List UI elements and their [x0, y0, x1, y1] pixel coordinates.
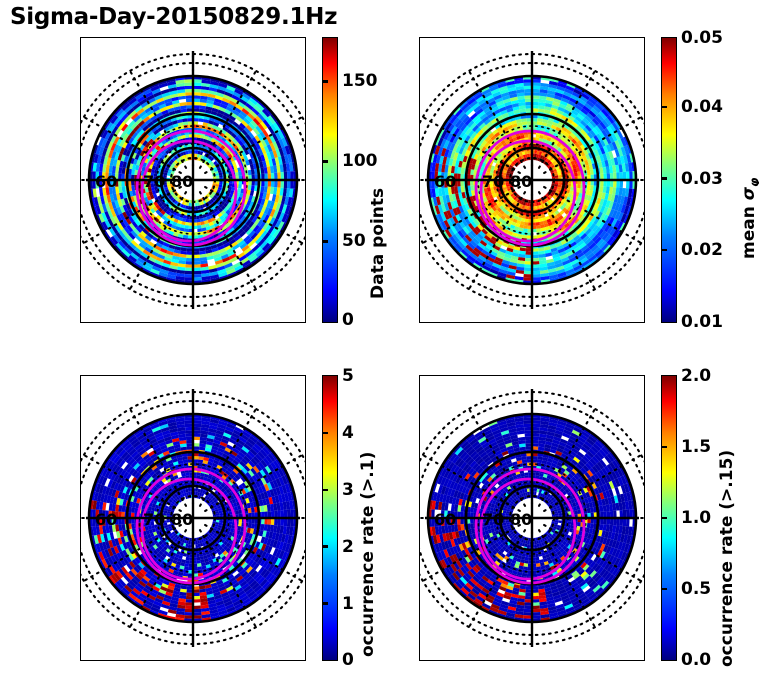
- colorbar-tick: [661, 177, 667, 179]
- colorbar-tick-label: 2: [342, 537, 354, 557]
- colorbar-tick: [322, 432, 328, 434]
- colorbar-tick: [661, 446, 667, 448]
- svg-text:60: 60: [95, 510, 117, 529]
- svg-text:70: 70: [143, 510, 165, 529]
- colorbar-tick-label: 150: [342, 71, 378, 91]
- colorbar-tick-label: 50: [342, 231, 366, 251]
- figure-root: Sigma-Day-20150829.1Hz 607080 150100500 …: [0, 0, 759, 674]
- colorbar-gradient: [322, 375, 338, 661]
- colorbar-tick-label: 0.01: [681, 312, 723, 332]
- colorbar-tick-label: 0.02: [681, 240, 723, 260]
- colorbar-tick: [322, 545, 328, 547]
- colorbar-occurrence-gt-015: 2.01.51.00.50.0 occurrence rate (>.15): [661, 375, 677, 661]
- colorbar-axis-label: Data points: [368, 188, 388, 299]
- colorbar-tick-label: 2.0: [681, 366, 711, 386]
- colorbar-axis-label: occurrence rate (>.15): [717, 450, 737, 667]
- colorbar-tick-label: 3: [342, 480, 354, 500]
- svg-text:60: 60: [434, 172, 456, 191]
- polar-plot-occurrence-gt-01: 607080: [80, 375, 306, 661]
- colorbar-tick-label: 0: [342, 310, 354, 330]
- colorbar-tick: [322, 489, 328, 491]
- svg-text:80: 80: [171, 172, 193, 191]
- svg-text:60: 60: [95, 172, 117, 191]
- svg-text:80: 80: [510, 510, 532, 529]
- colorbar-tick-label: 4: [342, 423, 354, 443]
- colorbar-tick-label: 1.5: [681, 437, 711, 457]
- occurrence-rate-gt-015-panel: 607080: [419, 375, 645, 661]
- polar-plot-mean-sigma-phi: 607080: [419, 37, 645, 323]
- occurrence-rate-gt-01-panel: 607080: [80, 375, 306, 661]
- svg-text:70: 70: [482, 172, 504, 191]
- page-title: Sigma-Day-20150829.1Hz: [10, 4, 337, 30]
- colorbar-tick-label: 1: [342, 594, 354, 614]
- colorbar-tick: [661, 249, 667, 251]
- svg-text:60: 60: [434, 510, 456, 529]
- colorbar-tick-label: 100: [342, 151, 378, 171]
- colorbar-tick: [322, 240, 328, 242]
- polar-plot-data-points: 607080: [80, 37, 306, 323]
- colorbar-mean-sigma-phi: 0.050.040.030.020.01 mean σφ: [661, 37, 677, 323]
- svg-text:80: 80: [171, 510, 193, 529]
- colorbar-axis-label: mean σφ: [739, 178, 759, 259]
- colorbar-tick-label: 0.03: [681, 169, 723, 189]
- colorbar-tick-label: 0.04: [681, 97, 723, 117]
- svg-text:70: 70: [143, 172, 165, 191]
- colorbar-tick: [661, 106, 667, 108]
- colorbar-tick-label: 0.05: [681, 28, 723, 48]
- colorbar-tick: [661, 588, 667, 590]
- polar-plot-occurrence-gt-015: 607080: [419, 375, 645, 661]
- colorbar-tick-label: 5: [342, 366, 354, 386]
- colorbar-tick: [322, 602, 328, 604]
- colorbar-tick-label: 1.0: [681, 508, 711, 528]
- svg-text:80: 80: [510, 172, 532, 191]
- colorbar-tick-label: 0: [342, 650, 354, 670]
- colorbar-tick-label: 0.0: [681, 650, 711, 670]
- svg-text:70: 70: [482, 510, 504, 529]
- colorbar-tick: [322, 80, 328, 82]
- colorbar-tick: [322, 160, 328, 162]
- mean-sigma-phi-panel: 607080: [419, 37, 645, 323]
- colorbar-tick: [661, 517, 667, 519]
- colorbar-data-points: 150100500 Data points: [322, 37, 338, 323]
- colorbar-axis-label: occurrence rate (>.1): [358, 452, 378, 657]
- data-points-panel: 607080: [80, 37, 306, 323]
- colorbar-occurrence-gt-01: 543210 occurrence rate (>.1): [322, 375, 338, 661]
- colorbar-tick-label: 0.5: [681, 579, 711, 599]
- colorbar-gradient: [661, 37, 677, 323]
